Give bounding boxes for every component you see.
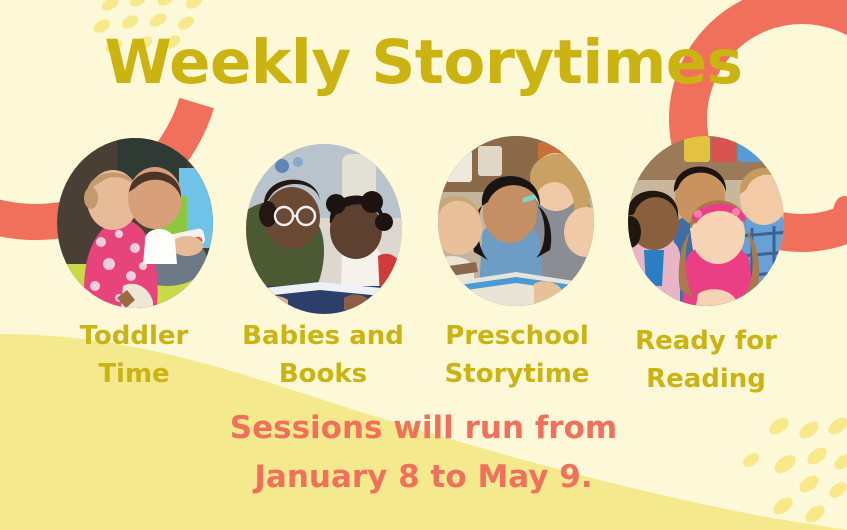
page-title: Weekly Storytimes bbox=[0, 32, 847, 93]
session-dates-text: Sessions will run from January 8 to May … bbox=[0, 404, 847, 502]
photo-illustration bbox=[628, 136, 784, 306]
caption-line-2: Books bbox=[223, 356, 423, 394]
avatar bbox=[438, 136, 594, 306]
caption-line-2: Time bbox=[34, 356, 234, 394]
caption-ready-for-reading: Ready for Reading bbox=[606, 323, 806, 398]
caption-line-2: Storytime bbox=[417, 356, 617, 394]
avatar bbox=[57, 138, 213, 308]
caption-line-1: Babies and bbox=[223, 318, 423, 356]
caption-babies-and-books: Babies and Books bbox=[223, 318, 423, 393]
photo-illustration bbox=[246, 144, 402, 314]
program-photo-toddler-time bbox=[57, 138, 213, 308]
caption-toddler-time: Toddler Time bbox=[34, 318, 234, 393]
photo-illustration bbox=[438, 136, 594, 306]
program-photo-babies-and-books bbox=[246, 144, 402, 314]
caption-line-1: Toddler bbox=[34, 318, 234, 356]
caption-preschool-storytime: Preschool Storytime bbox=[417, 318, 617, 393]
program-photo-preschool-storytime bbox=[438, 136, 594, 306]
program-photo-ready-for-reading bbox=[628, 136, 784, 306]
avatar bbox=[246, 144, 402, 314]
avatar bbox=[628, 136, 784, 306]
photo-illustration bbox=[57, 138, 213, 308]
caption-line-1: Ready for bbox=[606, 323, 806, 361]
caption-line-1: Preschool bbox=[417, 318, 617, 356]
weekly-storytimes-poster: Weekly Storytimes bbox=[0, 0, 847, 530]
caption-line-2: Reading bbox=[606, 361, 806, 399]
session-dates-line-1: Sessions will run from bbox=[0, 404, 847, 453]
session-dates-line-2: January 8 to May 9. bbox=[0, 453, 847, 502]
program-photo-row bbox=[0, 136, 847, 314]
